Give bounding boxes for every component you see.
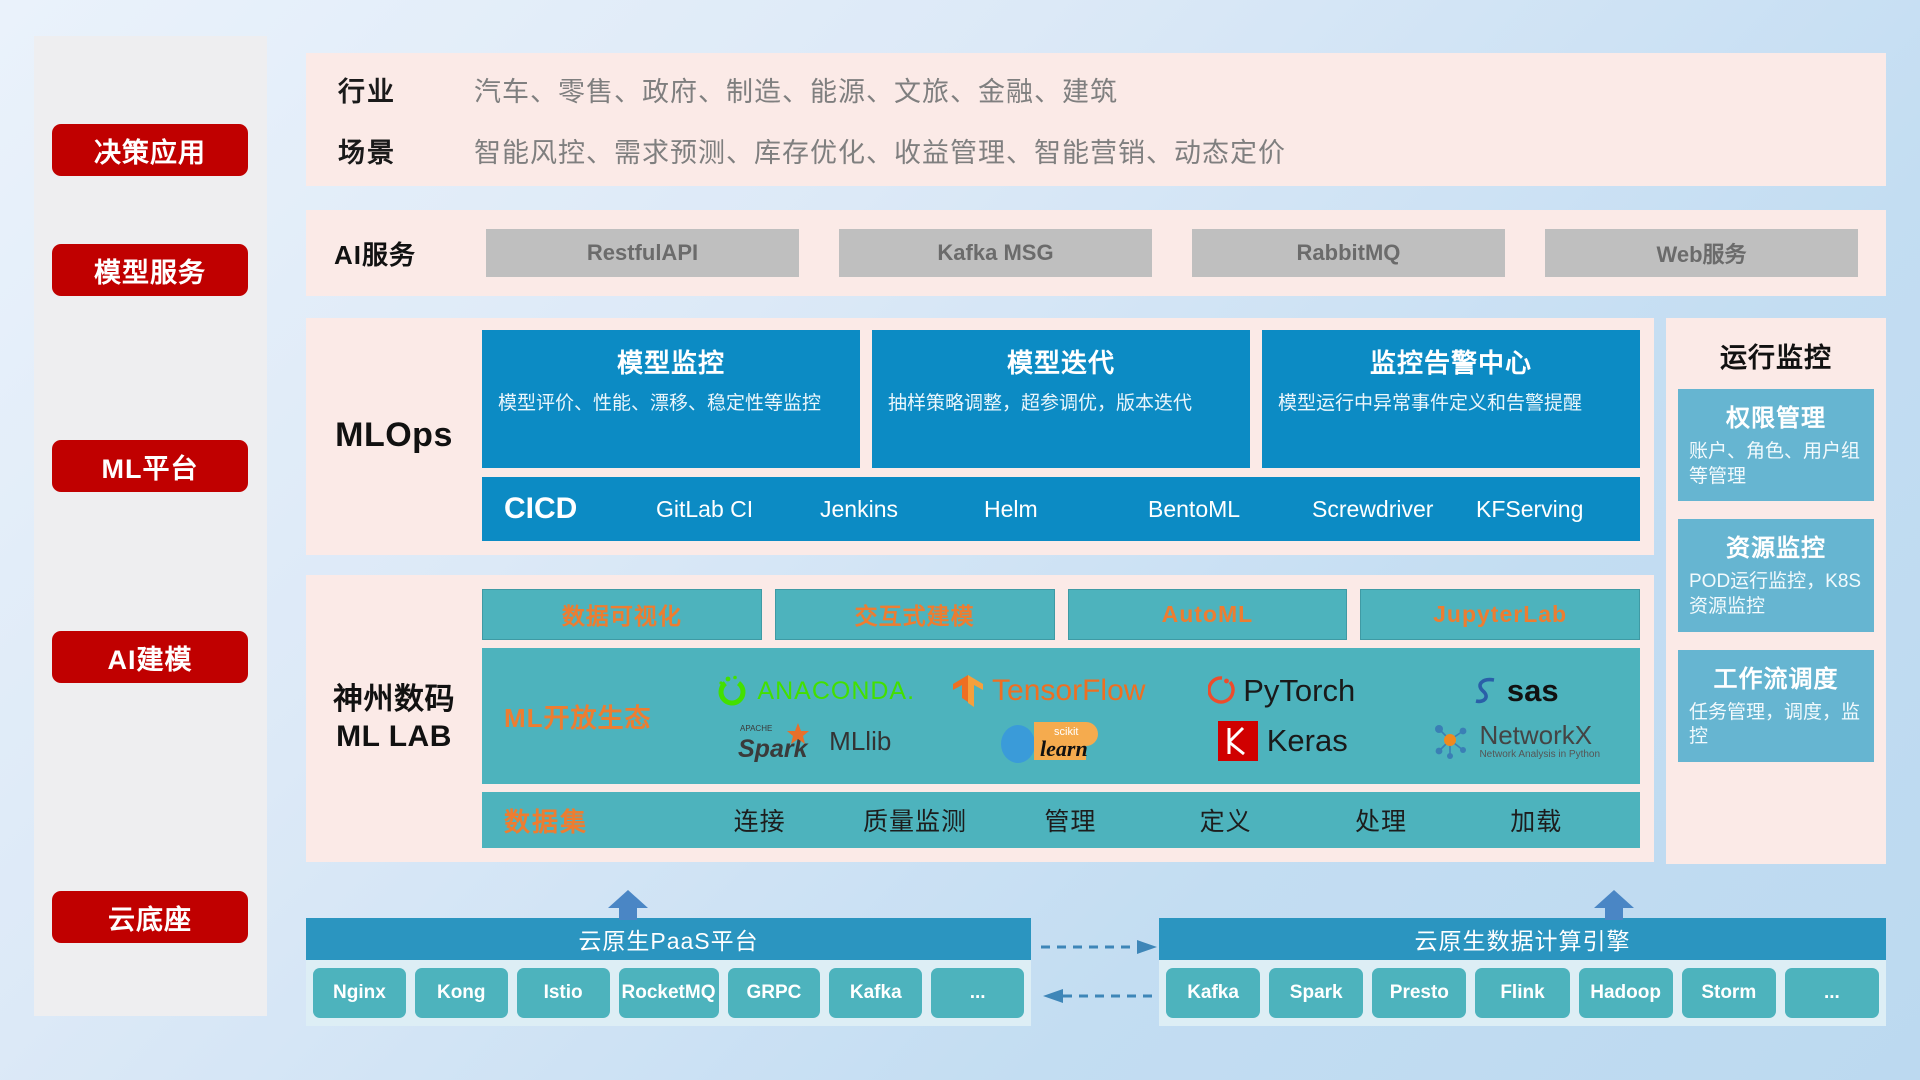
scenario-values: 智能风控、需求预测、库存优化、收益管理、智能营销、动态定价 (474, 131, 1286, 170)
data-chip-kafka[interactable]: Kafka (1166, 968, 1260, 1018)
ai-service-chip-rabbitmq[interactable]: RabbitMQ (1192, 229, 1505, 277)
industry-row: 行业 汽车、零售、政府、制造、能源、文旅、金融、建筑 (338, 70, 1886, 109)
spark-icon: APACHE Spark (738, 719, 822, 763)
ai-service-panel: AI服务 RestfulAPI Kafka MSG RabbitMQ Web服务 (306, 210, 1886, 296)
mlops-label: MLOps (306, 330, 482, 541)
ml-lab-panel: 神州数码 ML LAB 数据可视化 交互式建模 AutoML JupyterLa… (306, 575, 1654, 862)
rail-item-decision-app[interactable]: 决策应用 (52, 124, 248, 176)
dataset-item-quality[interactable]: 质量监测 (837, 802, 992, 838)
svg-text:learn: learn (1040, 736, 1088, 761)
card-title: 资源监控 (1689, 528, 1863, 563)
cicd-item-jenkins[interactable]: Jenkins (820, 498, 984, 521)
mlops-card-alert-center[interactable]: 监控告警中心 模型运行中异常事件定义和告警提醒 (1262, 330, 1640, 468)
up-arrow-icon (1592, 890, 1636, 920)
mlops-card-model-monitoring[interactable]: 模型监控 模型评价、性能、漂移、稳定性等监控 (482, 330, 860, 468)
rail-item-ai-modeling[interactable]: AI建模 (52, 631, 248, 683)
mlops-panel: MLOps 模型监控 模型评价、性能、漂移、稳定性等监控 模型迭代 抽样策略调整… (306, 318, 1654, 555)
tensorflow-icon (951, 673, 985, 709)
cloud-foundation-section: 云原生PaaS平台 Nginx Kong Istio RocketMQ GRPC… (306, 896, 1886, 1026)
paas-group: 云原生PaaS平台 Nginx Kong Istio RocketMQ GRPC… (306, 918, 1031, 1026)
card-title: 监控告警中心 (1278, 343, 1624, 380)
data-chip-flink[interactable]: Flink (1475, 968, 1569, 1018)
cicd-item-screwdriver[interactable]: Screwdriver (1312, 498, 1476, 521)
svg-text:APACHE: APACHE (740, 724, 772, 733)
anaconda-icon (714, 673, 750, 709)
scikit-learn-logo: scikit learn (996, 716, 1100, 766)
tool-chip-jupyterlab[interactable]: JupyterLab (1360, 589, 1640, 640)
card-desc: 模型评价、性能、漂移、稳定性等监控 (498, 391, 844, 417)
ai-service-label: AI服务 (334, 235, 486, 272)
sas-icon (1472, 675, 1500, 707)
paas-chip-istio[interactable]: Istio (517, 968, 610, 1018)
tool-chip-data-visualization[interactable]: 数据可视化 (482, 589, 762, 640)
ml-lab-label: 神州数码 ML LAB (306, 589, 482, 848)
industry-scenario-panel: 行业 汽车、零售、政府、制造、能源、文旅、金融、建筑 场景 智能风控、需求预测、… (306, 53, 1886, 186)
rail-item-model-service[interactable]: 模型服务 (52, 244, 248, 296)
card-desc: 账户、角色、用户组等管理 (1689, 440, 1863, 489)
arrow-right-icon (1041, 939, 1159, 955)
ml-lab-label-line1: 神州数码 (333, 682, 455, 719)
runtime-monitor-title: 运行监控 (1678, 336, 1874, 375)
arrow-left-icon (1041, 988, 1159, 1004)
scenario-label: 场景 (338, 131, 474, 170)
tensorflow-wordmark: TensorFlow (992, 674, 1145, 708)
paas-chip-grpc[interactable]: GRPC (728, 968, 821, 1018)
ai-service-chip-kafka-msg[interactable]: Kafka MSG (839, 229, 1152, 277)
dataset-item-define[interactable]: 定义 (1148, 802, 1303, 838)
card-desc: 抽样策略调整，超参调优，版本迭代 (888, 391, 1234, 417)
scikit-learn-icon: scikit learn (996, 716, 1100, 766)
paas-chip-kong[interactable]: Kong (415, 968, 508, 1018)
dataset-label: 数据集 (504, 802, 682, 839)
layer-rail: 决策应用 模型服务 ML平台 AI建模 云底座 (34, 36, 267, 1016)
cicd-item-helm[interactable]: Helm (984, 498, 1148, 521)
ml-ecosystem-label: ML开放生态 (504, 698, 700, 735)
data-chip-hadoop[interactable]: Hadoop (1579, 968, 1673, 1018)
rail-item-cloud-base[interactable]: 云底座 (52, 891, 248, 943)
networkx-logo: NetworkX Network Analysis in Python (1430, 720, 1600, 762)
scenario-row: 场景 智能风控、需求预测、库存优化、收益管理、智能营销、动态定价 (338, 131, 1886, 170)
tool-chip-automl[interactable]: AutoML (1068, 589, 1348, 640)
monitor-card-resource[interactable]: 资源监控 POD运行监控，K8S资源监控 (1678, 519, 1874, 631)
card-desc: 模型运行中异常事件定义和告警提醒 (1278, 391, 1624, 417)
tensorflow-logo: TensorFlow (951, 673, 1145, 709)
pytorch-wordmark: PyTorch (1243, 673, 1355, 709)
card-title: 工作流调度 (1689, 659, 1863, 694)
dataset-item-process[interactable]: 处理 (1303, 802, 1458, 838)
card-desc: POD运行监控，K8S资源监控 (1689, 570, 1863, 619)
data-chip-presto[interactable]: Presto (1372, 968, 1466, 1018)
data-chip-more[interactable]: ... (1785, 968, 1879, 1018)
networkx-tagline: Network Analysis in Python (1479, 750, 1600, 760)
dataset-item-connect[interactable]: 连接 (682, 802, 837, 838)
dataset-item-manage[interactable]: 管理 (993, 802, 1148, 838)
dataset-bar: 数据集 连接 质量监测 管理 定义 处理 加载 (482, 792, 1640, 848)
tool-chip-interactive-modeling[interactable]: 交互式建模 (775, 589, 1055, 640)
data-engine-title: 云原生数据计算引擎 (1159, 918, 1886, 960)
keras-logo: Keras (1216, 719, 1348, 763)
sas-wordmark: sas (1507, 673, 1559, 709)
card-title: 模型迭代 (888, 343, 1234, 380)
cicd-item-gitlab-ci[interactable]: GitLab CI (656, 498, 820, 521)
paas-chip-nginx[interactable]: Nginx (313, 968, 406, 1018)
cicd-item-bentoml[interactable]: BentoML (1148, 498, 1312, 521)
ai-service-chip-restfulapi[interactable]: RestfulAPI (486, 229, 799, 277)
runtime-monitor-panel: 运行监控 权限管理 账户、角色、用户组等管理 资源监控 POD运行监控，K8S资… (1666, 318, 1886, 864)
mlops-card-model-iteration[interactable]: 模型迭代 抽样策略调整，超参调优，版本迭代 (872, 330, 1250, 468)
ai-service-chip-web-service[interactable]: Web服务 (1545, 229, 1858, 277)
svg-text:Spark: Spark (738, 735, 809, 763)
ml-lab-label-line2: ML LAB (336, 719, 452, 756)
paas-chip-kafka[interactable]: Kafka (829, 968, 922, 1018)
data-chip-spark[interactable]: Spark (1269, 968, 1363, 1018)
industry-label: 行业 (338, 70, 474, 109)
dataset-item-load[interactable]: 加载 (1459, 802, 1614, 838)
data-chip-storm[interactable]: Storm (1682, 968, 1776, 1018)
spark-mllib-logo: APACHE Spark MLlib (738, 719, 891, 763)
paas-title: 云原生PaaS平台 (306, 918, 1031, 960)
networkx-wordmark: NetworkX (1479, 722, 1600, 748)
cicd-bar: CICD GitLab CI Jenkins Helm BentoML Scre… (482, 477, 1640, 541)
paas-chip-more[interactable]: ... (931, 968, 1024, 1018)
cicd-item-kfserving[interactable]: KFServing (1476, 498, 1640, 521)
monitor-card-workflow[interactable]: 工作流调度 任务管理，调度，监控 (1678, 650, 1874, 762)
ml-ecosystem-band: ML开放生态 ANACONDA. (482, 648, 1640, 784)
monitor-card-permission[interactable]: 权限管理 账户、角色、用户组等管理 (1678, 389, 1874, 501)
industry-values: 汽车、零售、政府、制造、能源、文旅、金融、建筑 (474, 70, 1118, 109)
anaconda-wordmark: ANACONDA. (757, 677, 915, 706)
mllib-wordmark: MLlib (829, 726, 891, 757)
networkx-icon (1430, 720, 1472, 762)
anaconda-logo: ANACONDA. (714, 673, 915, 709)
keras-icon (1216, 719, 1260, 763)
up-arrow-icon (606, 890, 650, 920)
card-desc: 任务管理，调度，监控 (1689, 701, 1863, 750)
paas-chip-rocketmq[interactable]: RocketMQ (619, 968, 719, 1018)
pytorch-icon (1208, 674, 1236, 708)
card-title: 权限管理 (1689, 398, 1863, 433)
data-engine-group: 云原生数据计算引擎 Kafka Spark Presto Flink Hadoo… (1159, 918, 1886, 1026)
rail-item-ml-platform[interactable]: ML平台 (52, 440, 248, 492)
cicd-label: CICD (504, 492, 656, 526)
card-title: 模型监控 (498, 343, 844, 380)
keras-wordmark: Keras (1267, 723, 1348, 759)
sas-logo: sas (1472, 673, 1559, 709)
pytorch-logo: PyTorch (1208, 673, 1355, 709)
